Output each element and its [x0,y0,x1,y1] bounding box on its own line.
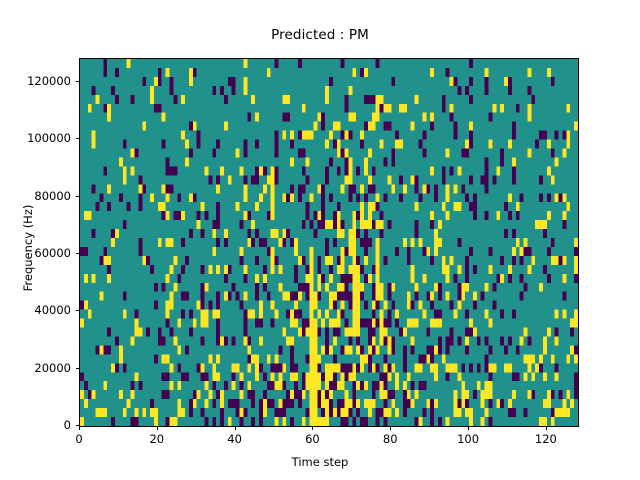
page-title: Predicted : PM [0,27,640,43]
x-axis-label: Time step [0,455,640,469]
y-tick-label: 20000 [0,361,71,375]
y-tick-mark [76,368,80,369]
y-tick-mark [76,81,80,82]
x-tick-label: 20 [149,432,164,446]
x-tick-mark [312,426,313,430]
x-tick-mark [79,426,80,430]
heatmap-image [80,59,578,426]
matplotlib-figure: Predicted : PM 0200004000060000800001000… [0,0,640,480]
y-tick-label: 100000 [0,131,71,145]
x-tick-mark [468,426,469,430]
x-tick-label: 80 [383,432,398,446]
y-tick-label: 0 [0,418,71,432]
y-tick-label: 40000 [0,303,71,317]
x-tick-label: 40 [227,432,242,446]
x-tick-mark [157,426,158,430]
y-tick-label: 60000 [0,246,71,260]
x-tick-mark [235,426,236,430]
y-tick-label: 80000 [0,189,71,203]
y-tick-mark [76,196,80,197]
x-tick-mark [390,426,391,430]
y-tick-mark [76,253,80,254]
x-tick-mark [546,426,547,430]
y-tick-mark [76,310,80,311]
x-tick-label: 120 [535,432,557,446]
heatmap-axes [79,58,579,427]
y-axis-label: Frequency (Hz) [21,168,35,328]
x-tick-label: 0 [75,432,82,446]
y-tick-label: 120000 [0,74,71,88]
y-tick-mark [76,138,80,139]
x-tick-label: 100 [457,432,479,446]
x-tick-label: 60 [305,432,320,446]
